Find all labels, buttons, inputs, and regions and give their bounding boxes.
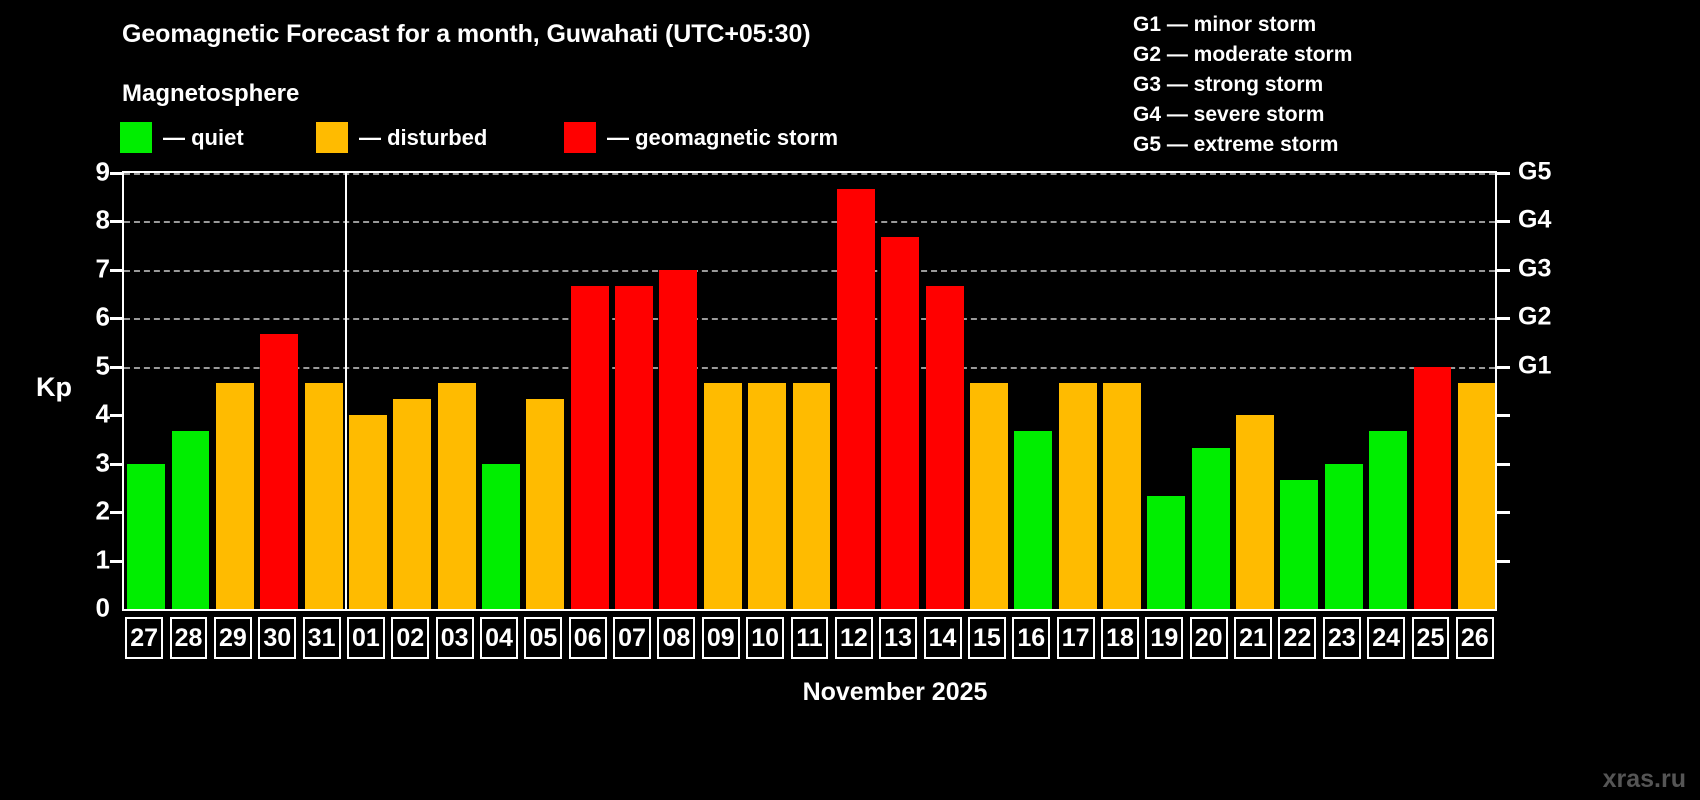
day-label-12: 12 [835, 617, 873, 659]
bar-20 [1192, 448, 1230, 609]
x-axis-day-labels: 2728293031010203040506070809101112131415… [122, 617, 1497, 659]
g-tick-label-G1: G1 [1518, 351, 1551, 380]
day-label-29: 29 [214, 617, 252, 659]
day-label-24: 24 [1367, 617, 1405, 659]
day-label-07: 07 [613, 617, 651, 659]
month-separator [345, 173, 347, 609]
bar-22 [1280, 480, 1318, 609]
green-square-icon [120, 122, 152, 153]
day-label-09: 09 [702, 617, 740, 659]
bar-17 [1059, 383, 1097, 609]
kp-tick-mark-9 [110, 172, 122, 175]
g-scale-axis: G1G2G3G4G5 [1497, 171, 1617, 609]
day-label-06: 06 [569, 617, 607, 659]
x-axis-title: November 2025 [0, 678, 1700, 707]
g-axis-minor-tick [1497, 511, 1510, 514]
kp-tick-label-3: 3 [70, 447, 110, 478]
g-tick-mark-G3 [1497, 269, 1510, 272]
bar-05 [526, 399, 564, 609]
g-tick-label-G5: G5 [1518, 158, 1551, 187]
kp-tick-mark-4 [110, 414, 122, 417]
red-square-icon [564, 122, 596, 153]
day-label-20: 20 [1190, 617, 1228, 659]
kp-tick-mark-7 [110, 269, 122, 272]
orange-square-icon [316, 122, 348, 153]
bar-06 [571, 286, 609, 609]
day-label-18: 18 [1101, 617, 1139, 659]
day-label-16: 16 [1012, 617, 1050, 659]
day-label-27: 27 [125, 617, 163, 659]
day-label-26: 26 [1456, 617, 1494, 659]
bar-25 [1414, 367, 1452, 609]
g-tick-mark-G1 [1497, 366, 1510, 369]
day-label-08: 08 [657, 617, 695, 659]
magnetosphere-section-label: Magnetosphere [122, 80, 299, 108]
bar-02 [393, 399, 431, 609]
day-label-28: 28 [170, 617, 208, 659]
day-label-21: 21 [1234, 617, 1272, 659]
g-axis-minor-tick [1497, 463, 1510, 466]
bar-31 [305, 383, 343, 609]
bar-21 [1236, 415, 1274, 609]
kp-tick-label-0: 0 [70, 593, 110, 624]
bars-layer [124, 173, 1495, 609]
g-scale-legend-row: G1 — minor storm [1133, 10, 1352, 40]
bar-29 [216, 383, 254, 609]
day-label-31: 31 [303, 617, 341, 659]
day-label-23: 23 [1323, 617, 1361, 659]
g-tick-mark-G5 [1497, 172, 1510, 175]
bar-18 [1103, 383, 1141, 609]
kp-tick-label-9: 9 [70, 157, 110, 188]
kp-tick-label-6: 6 [70, 302, 110, 333]
g-tick-label-G3: G3 [1518, 254, 1551, 283]
g-axis-minor-tick [1497, 560, 1510, 563]
bar-30 [260, 334, 298, 609]
bar-27 [127, 464, 165, 609]
bar-23 [1325, 464, 1363, 609]
kp-tick-mark-5 [110, 366, 122, 369]
bar-10 [748, 383, 786, 609]
bar-04 [482, 464, 520, 609]
watermark: xras.ru [1603, 765, 1686, 794]
g-tick-mark-G2 [1497, 317, 1510, 320]
day-label-17: 17 [1057, 617, 1095, 659]
legend-label-storm: — geomagnetic storm [607, 125, 838, 151]
day-label-15: 15 [968, 617, 1006, 659]
bar-13 [881, 237, 919, 609]
kp-tick-mark-3 [110, 463, 122, 466]
bar-09 [704, 383, 742, 609]
kp-tick-label-4: 4 [70, 399, 110, 430]
bar-16 [1014, 431, 1052, 609]
legend-item-storm: — geomagnetic storm [564, 122, 838, 153]
kp-tick-label-2: 2 [70, 496, 110, 527]
kp-tick-label-5: 5 [70, 350, 110, 381]
bar-12 [837, 189, 875, 609]
kp-tick-mark-8 [110, 220, 122, 223]
plot-inner [124, 173, 1495, 609]
g-tick-label-G2: G2 [1518, 303, 1551, 332]
plot-area [122, 171, 1497, 611]
day-label-13: 13 [879, 617, 917, 659]
legend-item-quiet: — quiet [120, 122, 244, 153]
g-scale-legend-row: G2 — moderate storm [1133, 40, 1352, 70]
kp-tick-label-1: 1 [70, 544, 110, 575]
page-title: Geomagnetic Forecast for a month, Guwaha… [122, 20, 811, 49]
g-tick-mark-G4 [1497, 220, 1510, 223]
day-label-11: 11 [791, 617, 829, 659]
day-label-14: 14 [924, 617, 962, 659]
bar-28 [172, 431, 210, 609]
day-label-25: 25 [1412, 617, 1450, 659]
kp-tick-mark-2 [110, 511, 122, 514]
g-scale-legend: G1 — minor storm G2 — moderate storm G3 … [1133, 10, 1352, 160]
day-label-19: 19 [1145, 617, 1183, 659]
bar-03 [438, 383, 476, 609]
legend-label-disturbed: — disturbed [359, 125, 487, 151]
day-label-05: 05 [524, 617, 562, 659]
kp-tick-mark-6 [110, 317, 122, 320]
kp-tick-label-7: 7 [70, 253, 110, 284]
kp-tick-mark-1 [110, 560, 122, 563]
g-tick-label-G4: G4 [1518, 206, 1551, 235]
kp-axis-title: Kp [36, 372, 72, 403]
day-label-01: 01 [347, 617, 385, 659]
g-axis-minor-tick [1497, 414, 1510, 417]
day-label-30: 30 [258, 617, 296, 659]
legend-label-quiet: — quiet [163, 125, 244, 151]
bar-15 [970, 383, 1008, 609]
bar-26 [1458, 383, 1495, 609]
g-scale-legend-row: G4 — severe storm [1133, 100, 1352, 130]
legend-item-disturbed: — disturbed [316, 122, 487, 153]
bar-19 [1147, 496, 1185, 609]
day-label-03: 03 [436, 617, 474, 659]
g-scale-legend-row: G3 — strong storm [1133, 70, 1352, 100]
bar-14 [926, 286, 964, 609]
day-label-22: 22 [1278, 617, 1316, 659]
bar-01 [349, 415, 387, 609]
bar-11 [793, 383, 831, 609]
day-label-04: 04 [480, 617, 518, 659]
g-scale-legend-row: G5 — extreme storm [1133, 130, 1352, 160]
bar-24 [1369, 431, 1407, 609]
day-label-10: 10 [746, 617, 784, 659]
day-label-02: 02 [391, 617, 429, 659]
bar-07 [615, 286, 653, 609]
bar-08 [659, 270, 697, 609]
kp-tick-label-8: 8 [70, 205, 110, 236]
